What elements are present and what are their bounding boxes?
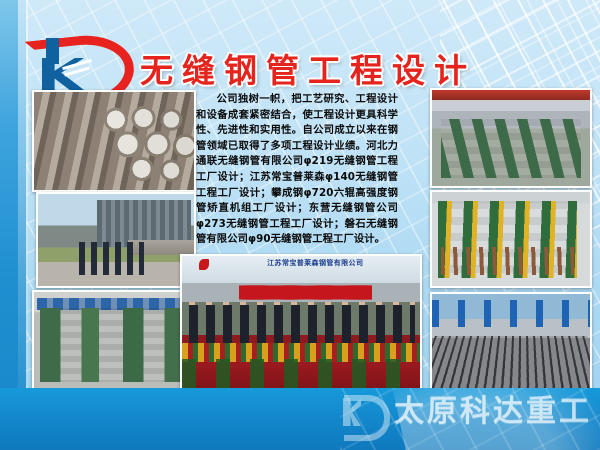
body-paragraph: 公司独树一帜，把工艺研究、工程设计和设备成套紧密结合，使工程设计更具科学性、先进…	[196, 92, 398, 248]
photo-hall-floor	[430, 336, 592, 392]
page-title: 无缝钢管工程设计	[140, 44, 476, 92]
ceremony-guest-row	[189, 305, 415, 346]
footer-brand: 太原科达重工	[342, 390, 592, 434]
photo-stacked-seamless-pipes: 堆放的无缝钢管	[32, 90, 196, 192]
photo-hall-beams	[432, 300, 590, 327]
photo-line2-pipes	[441, 247, 574, 275]
photo-large-workshop-interior: 大型车间内部	[430, 292, 592, 392]
footer-band: 太原科达重工	[0, 388, 600, 450]
footer-brand-name: 太原科达重工	[394, 390, 592, 434]
photo-workshop-assembly-line: 车间机组装配线	[430, 88, 592, 188]
photo-factory-gate-group: 河北力通联无缝钢管有限公司厂区大门合影	[36, 192, 196, 288]
kd-watermark-logo	[342, 391, 386, 433]
photo-opening-ceremony: 江苏常宝普莱森钢管有限公司 江苏常宝普莱森钢管有限公司开业庆典	[180, 254, 422, 394]
photo-gate-people	[79, 242, 145, 275]
watermark-d-icon	[344, 395, 390, 441]
photo-pipes-ends	[98, 100, 196, 182]
slide-page: 无缝钢管工程设计 公司独树一帜，把工艺研究、工程设计和设备成套紧密结合，使工程设…	[0, 0, 600, 450]
left-blue-band	[0, 0, 26, 450]
kd-company-logo	[24, 34, 120, 92]
photo-ceremony-banner: 江苏常宝普莱森钢管有限公司	[182, 256, 420, 283]
ceremony-banner-text: 江苏常宝普莱森钢管有限公司	[215, 258, 415, 268]
photo-line1-machines	[441, 119, 580, 179]
body-paragraph-block: 公司独树一帜，把工艺研究、工程设计和设备成套紧密结合，使工程设计更具科学性、先进…	[196, 92, 398, 248]
photo-line1-red-roof	[432, 90, 590, 100]
ceremony-banner-logo-icon	[199, 259, 209, 270]
photo-equipment-array-overhead: 成套设备俯视	[430, 190, 592, 288]
photo-machine-equipment	[40, 308, 187, 382]
photo-production-equipment-line: 钢管生产设备机组	[32, 290, 196, 394]
